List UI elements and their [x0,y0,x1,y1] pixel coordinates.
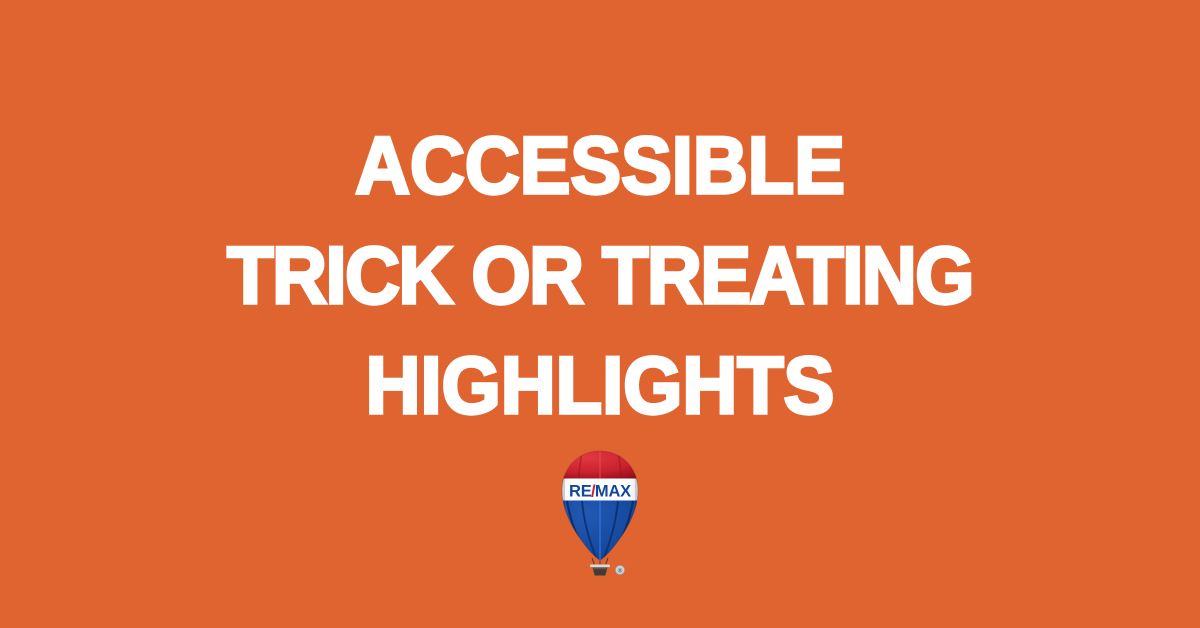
promo-banner: ACCESSIBLE TRICK OR TREATING HIGHLIGHTS [0,0,1200,628]
balloon-basket [590,565,610,576]
remax-balloon-logo: RE/MAX ® [552,448,648,578]
svg-text:RE/MAX: RE/MAX [569,483,631,501]
headline-line-3: HIGHLIGHTS [366,328,835,445]
headline-block: ACCESSIBLE TRICK OR TREATING HIGHLIGHTS [0,108,1200,438]
headline-line-2: TRICK OR TREATING [227,218,973,335]
remax-wordmark: RE/MAX [569,483,631,501]
wordmark-re: RE [569,483,592,501]
logo-container: RE/MAX ® [0,448,1200,578]
headline-line-1: ACCESSIBLE [355,108,845,225]
trademark-glyph: ® [618,568,623,575]
registered-trademark-icon: ® [615,565,624,574]
wordmark-max: MAX [595,483,631,501]
